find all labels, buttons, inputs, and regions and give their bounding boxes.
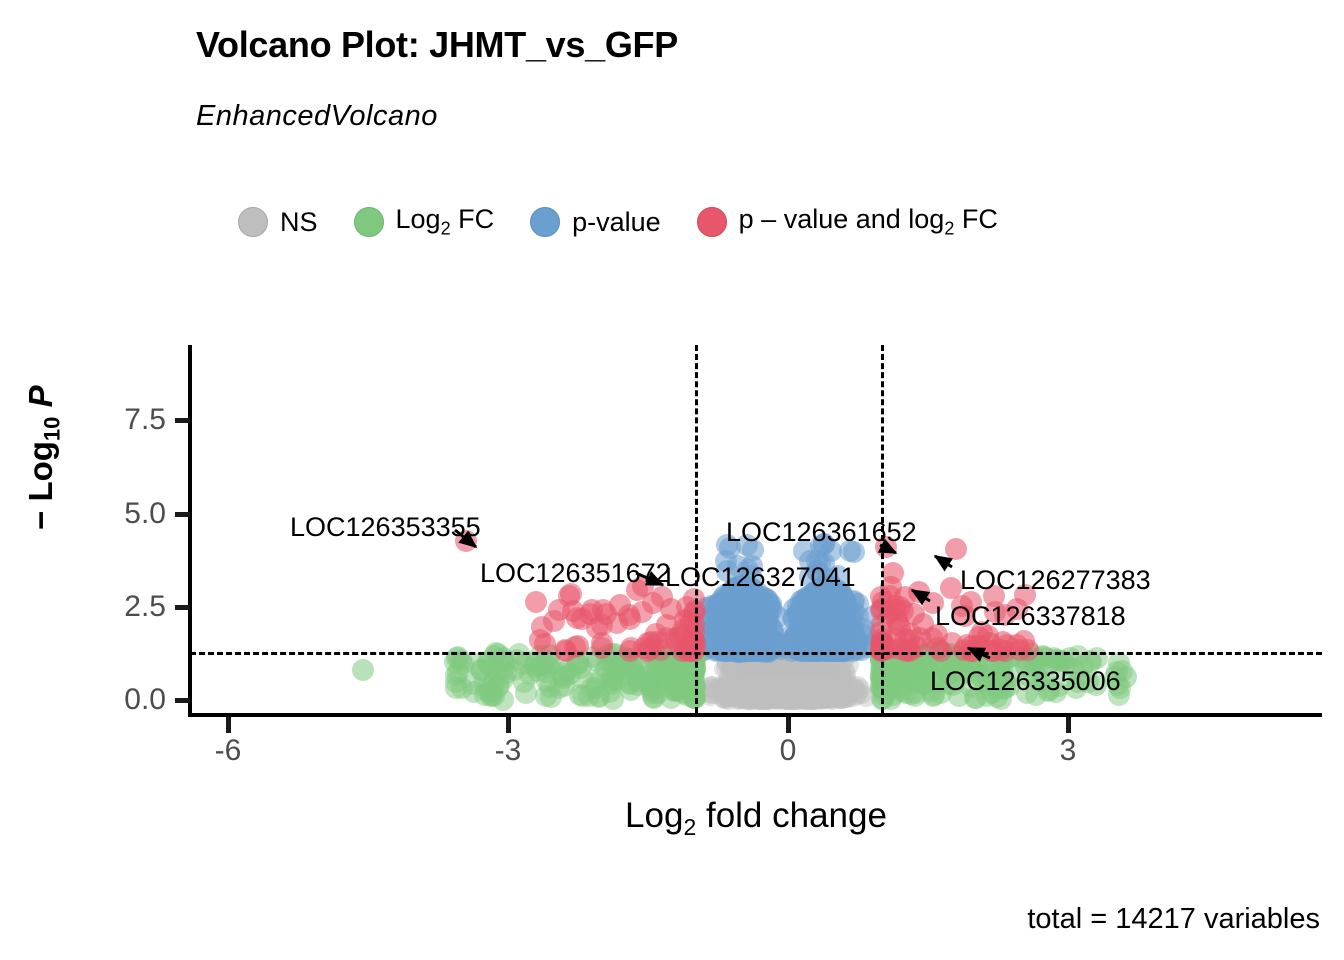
page-subtitle: EnhancedVolcano [196,100,438,133]
page-title: Volcano Plot: JHMT_vs_GFP [196,24,678,66]
data-point [740,639,762,661]
legend-label-pvalue-and-log2fc: p – value and log2 FC [739,204,998,239]
data-point [715,591,737,613]
legend: NS Log2 FC p-value p – value and log2 FC [238,198,1034,246]
data-point [831,689,851,709]
data-point [749,677,769,697]
data-point [820,629,842,651]
data-point [801,688,821,708]
legend-item-log2fc[interactable]: Log2 FC [354,204,495,239]
data-point [875,673,897,695]
legend-label-ns: NS [280,207,318,238]
data-point [817,608,839,630]
legend-item-pvalue[interactable]: p-value [530,207,661,238]
volcano-plot-figure: Volcano Plot: JHMT_vs_GFP EnhancedVolcan… [0,0,1344,960]
legend-label-pvalue: p-value [572,207,661,238]
legend-dot-pvalue [530,207,560,237]
legend-item-pvalue-and-log2fc[interactable]: p – value and log2 FC [697,204,998,239]
legend-item-ns[interactable]: NS [238,207,318,238]
data-point [646,666,668,688]
data-point [352,659,374,681]
data-point [850,679,870,699]
legend-dot-log2fc [354,207,384,237]
legend-dot-ns [238,207,268,237]
data-point [470,659,492,681]
data-point [835,591,857,613]
data-point [787,595,809,617]
legend-label-log2fc: Log2 FC [396,204,495,239]
data-point [839,632,861,654]
legend-dot-pvalue-and-log2fc [697,207,727,237]
data-point [785,635,807,657]
data-point [765,631,787,653]
